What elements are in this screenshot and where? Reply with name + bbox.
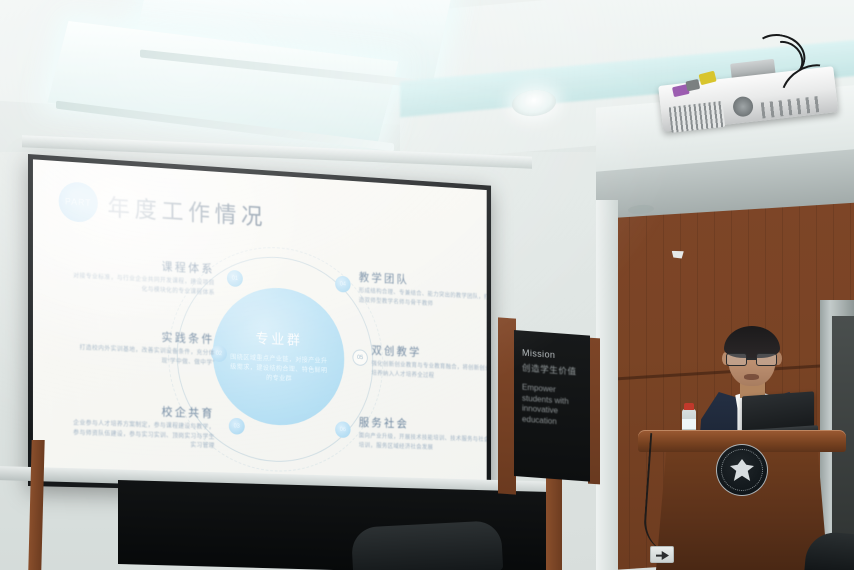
slide-item-right-3-desc: 面向产业升级，开展技术技能培训、技术服务与社会培训，服务区域经济社会发展 xyxy=(359,433,487,455)
slide-item-right-3: 服务社会 面向产业升级，开展技术技能培训、技术服务与社会培训，服务区域经济社会发… xyxy=(359,414,487,454)
glasses-bridge xyxy=(747,358,756,360)
slide-item-left-1: 课程体系 对接专业标准，与行业企业共同开发课程，建设项目化与模块化的专业课程体系 xyxy=(45,252,215,299)
slide-part-badge: PART xyxy=(59,181,98,223)
slide-item-right-2-title: 双创教学 xyxy=(371,342,486,363)
wall-power-socket-icon xyxy=(650,546,674,563)
slide-item-right-2: 双创教学 强化创新创业教育与专业教育融合，将创新创业能力培养纳入人才培养全过程 xyxy=(371,342,486,384)
university-crest-icon xyxy=(716,444,768,496)
projector-lens-icon xyxy=(732,96,754,118)
slide-item-right-1: 教学团队 形成结构合理、专兼结合、能力突出的教学团队，打造双师型教学名师与骨干教… xyxy=(359,269,487,312)
presenter-mouth xyxy=(744,374,759,380)
mission-chinese-text: 创造学生价值 xyxy=(522,361,584,378)
diagram-node-06: 06 xyxy=(335,421,350,438)
foreground-chair-left xyxy=(351,520,503,570)
slide-item-left-3-desc: 企业参与人才培养方案制定，参与课程建设与教学，参与师资队伍建设，参与实习实训、顶… xyxy=(68,419,214,452)
slide-item-left-2-desc: 打造校内外实训基地，改善实训设备条件，充分体现“学中做、做中学” xyxy=(68,344,214,369)
slide-item-right-3-title: 服务社会 xyxy=(359,414,487,434)
mission-banner: Mission 创造学生价值 Empower students with inn… xyxy=(514,330,590,482)
slide-item-left-2: 实践条件 打造校内外实训基地，改善实训设备条件，充分体现“学中做、做中学” xyxy=(45,324,215,369)
projection-screen-frame: PART 年度工作情况 专业群 围绕区域重点产业链，对接产业升级需求，建设结构合… xyxy=(28,154,491,497)
water-bottle-label xyxy=(682,419,696,429)
diagram-core-body: 围绕区域重点产业链，对接产业升级需求，建设结构合理、特色鲜明的专业群 xyxy=(229,352,329,385)
water-bottle-cap xyxy=(684,403,694,410)
projection-screen: PART 年度工作情况 专业群 围绕区域重点产业链，对接产业升级需求，建设结构合… xyxy=(33,159,487,491)
slide-item-left-1-desc: 对接专业标准，与行业企业共同开发课程，建设项目化与模块化的专业课程体系 xyxy=(68,272,214,298)
diagram-node-05: 05 xyxy=(352,349,367,366)
slide-item-right-1-desc: 形成结构合理、专兼结合、能力突出的教学团队，打造双师型教学名师与骨干教师 xyxy=(359,287,487,312)
presentation-room-photo: PART 年度工作情况 专业群 围绕区域重点产业链，对接产业升级需求，建设结构合… xyxy=(0,0,854,570)
diagram-core-title: 专业群 xyxy=(255,328,302,349)
slide-item-left-3: 校企共育 企业参与人才培养方案制定，参与课程建设与教学，参与师资队伍建设，参与实… xyxy=(45,400,215,453)
diagram-node-01: 01 xyxy=(227,270,243,287)
mission-heading: Mission xyxy=(522,349,584,363)
projector-vent-icon xyxy=(669,101,726,133)
glasses-lens-right xyxy=(756,353,777,366)
slide-title: 年度工作情况 xyxy=(108,188,268,231)
glasses-icon xyxy=(725,353,779,366)
diagram-node-03: 03 xyxy=(229,418,245,435)
mission-english-text: Empower students with innovative educati… xyxy=(522,382,574,429)
slide-item-right-2-desc: 强化创新创业教育与专业教育融合，将创新创业能力培养纳入人才培养全过程 xyxy=(371,360,486,384)
glasses-lens-left xyxy=(726,353,747,366)
diagram-node-04: 04 xyxy=(335,276,350,293)
